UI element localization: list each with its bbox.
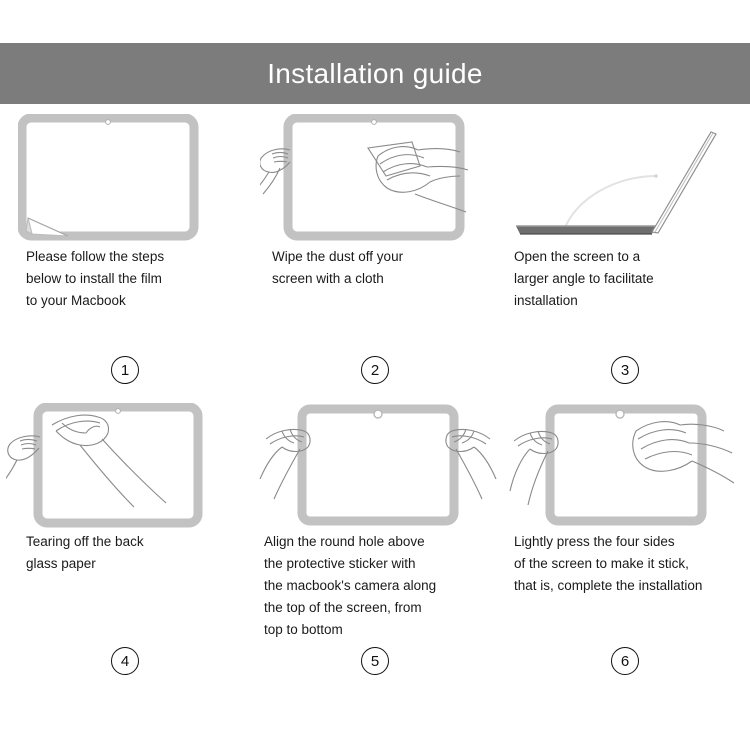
- step-number-badge-2: 2: [250, 356, 500, 384]
- step-number-1: 1: [111, 356, 139, 384]
- step-number-badge-3: 3: [500, 356, 750, 384]
- step-caption-3: Open the screen to a larger angle to fac…: [500, 246, 750, 312]
- step-card-6: Lightly press the four sides of the scre…: [500, 389, 750, 674]
- step-number-badge-1: 1: [0, 356, 250, 384]
- laptop-opening-side-view-icon: [500, 104, 750, 254]
- step-card-4: Tearing off the back glass paper 4: [0, 389, 250, 674]
- step-number-badge-5: 5: [250, 647, 500, 675]
- step-number-6: 6: [611, 647, 639, 675]
- step-caption-2: Wipe the dust off your screen with a clo…: [250, 246, 500, 290]
- header-band: Installation guide: [0, 43, 750, 104]
- step-card-3: Open the screen to a larger angle to fac…: [500, 104, 750, 389]
- steps-grid: Please follow the steps below to install…: [0, 104, 750, 750]
- step-caption-4: Tearing off the back glass paper: [0, 531, 250, 575]
- step-card-1: Please follow the steps below to install…: [0, 104, 250, 389]
- tablet-peeling-corner-icon: [0, 104, 268, 254]
- step-caption-5: Align the round hole above the protectiv…: [250, 531, 500, 641]
- step-number-2: 2: [361, 356, 389, 384]
- step-caption-1: Please follow the steps below to install…: [0, 246, 250, 312]
- hand-peeling-backing-icon: [0, 389, 256, 543]
- hand-wiping-cloth-icon: [250, 104, 510, 254]
- step-number-3: 3: [611, 356, 639, 384]
- step-number-badge-6: 6: [500, 647, 750, 675]
- step-number-badge-4: 4: [0, 647, 250, 675]
- step-number-5: 5: [361, 647, 389, 675]
- two-hands-aligning-film-icon: [250, 389, 506, 543]
- step-card-2: Wipe the dust off your screen with a clo…: [250, 104, 500, 389]
- hands-pressing-edges-icon: [500, 389, 750, 543]
- step-card-5: Align the round hole above the protectiv…: [250, 389, 500, 674]
- step-number-4: 4: [111, 647, 139, 675]
- installation-guide-page: Installation guide Please: [0, 0, 750, 750]
- step-caption-6: Lightly press the four sides of the scre…: [500, 531, 750, 597]
- page-title: Installation guide: [267, 58, 483, 90]
